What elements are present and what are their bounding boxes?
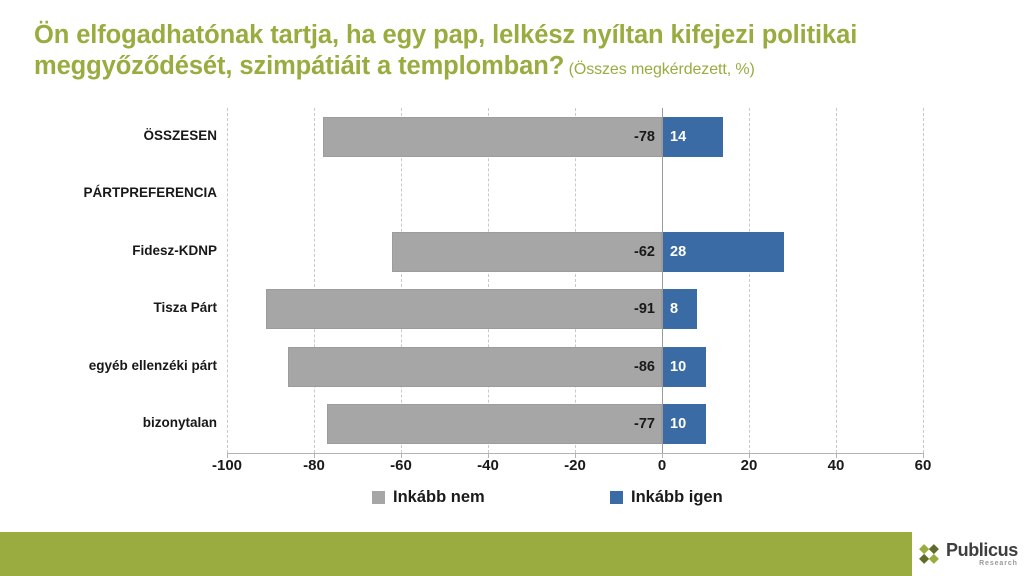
gridline-40 [836,108,837,453]
page-subtitle: (Összes megkérdezett, %) [569,61,755,78]
bar-positive[interactable]: 10-77 [662,404,706,444]
category-label-3: Tisza Párt [17,300,217,315]
bar-row: 28-62 [227,232,923,272]
bar-value-label-negative: -77 [634,417,655,432]
clover-diamond-icon [916,541,942,567]
x-tick-label: -20 [564,457,586,474]
category-label-5: bizonytalan [17,415,217,430]
x-tick-label: 20 [741,457,758,474]
legend-swatch [610,491,623,504]
zero-axis-line [662,108,663,453]
legend-label: Inkább nem [393,488,485,507]
plot-area: 14-7828-628-9110-8610-77 [227,108,923,453]
bar-value-label-negative: -91 [634,302,655,317]
category-axis: ÖSSZESENPÁRTPREFERENCIAFidesz-KDNPTisza … [10,108,217,453]
bar-chart: ÖSSZESENPÁRTPREFERENCIAFidesz-KDNPTisza … [0,100,1024,520]
bar-row: 10-86 [227,347,923,387]
logo-subtitle: Research [946,560,1018,567]
bar-value-label-negative: -78 [634,130,655,145]
bar-value-label-positive: 10 [670,417,686,432]
bar-negative[interactable] [392,232,662,272]
bar-row: 10-77 [227,404,923,444]
x-tick-label: 60 [915,457,932,474]
bar-row: 14-78 [227,117,923,157]
gridline--20 [575,108,576,453]
bar-value-label-positive: 14 [670,130,686,145]
legend-swatch [372,491,385,504]
publicus-logo: Publicus Research [912,532,1024,576]
gridline--40 [488,108,489,453]
gridline--80 [314,108,315,453]
bar-negative[interactable] [323,117,662,157]
bar-positive[interactable]: 28-62 [662,232,784,272]
x-axis-tick-labels: -100-80-60-40-200204060 [227,457,923,481]
bar-negative[interactable] [327,404,662,444]
x-tick-label: -60 [390,457,412,474]
gridline--100 [227,108,228,453]
gridline-60 [923,108,924,453]
bar-positive[interactable]: 14-78 [662,117,723,157]
bar-positive[interactable]: 8-91 [662,289,697,329]
legend-label: Inkább igen [631,488,723,507]
bar-positive[interactable]: 10-86 [662,347,706,387]
footer-bar [0,532,1024,576]
x-tick-label: 0 [658,457,666,474]
legend-item-0[interactable]: Inkább nem [372,488,485,507]
category-label-4: egyéb ellenzéki párt [17,358,217,373]
gridline-20 [749,108,750,453]
x-tick-label: -100 [212,457,242,474]
bar-negative[interactable] [288,347,662,387]
bar-value-label-negative: -86 [634,360,655,375]
bar-value-label-positive: 8 [670,302,678,317]
gridline--60 [401,108,402,453]
chart-legend: Inkább nemInkább igen [0,488,1024,514]
x-tick-label: -80 [303,457,325,474]
x-tick-label: -40 [477,457,499,474]
category-label-1: PÁRTPREFERENCIA [17,185,217,200]
category-label-0: ÖSSZESEN [17,128,217,143]
bar-row: 8-91 [227,289,923,329]
legend-item-1[interactable]: Inkább igen [610,488,723,507]
bar-value-label-positive: 28 [670,245,686,260]
bar-value-label-negative: -62 [634,245,655,260]
x-tick-label: 40 [828,457,845,474]
bar-negative[interactable] [266,289,662,329]
category-label-2: Fidesz-KDNP [17,243,217,258]
title-block: Ön elfogadhatónak tartja, ha egy pap, le… [34,20,984,82]
logo-name: Publicus [946,541,1018,559]
logo-wordmark: Publicus Research [946,541,1018,567]
bar-value-label-positive: 10 [670,360,686,375]
